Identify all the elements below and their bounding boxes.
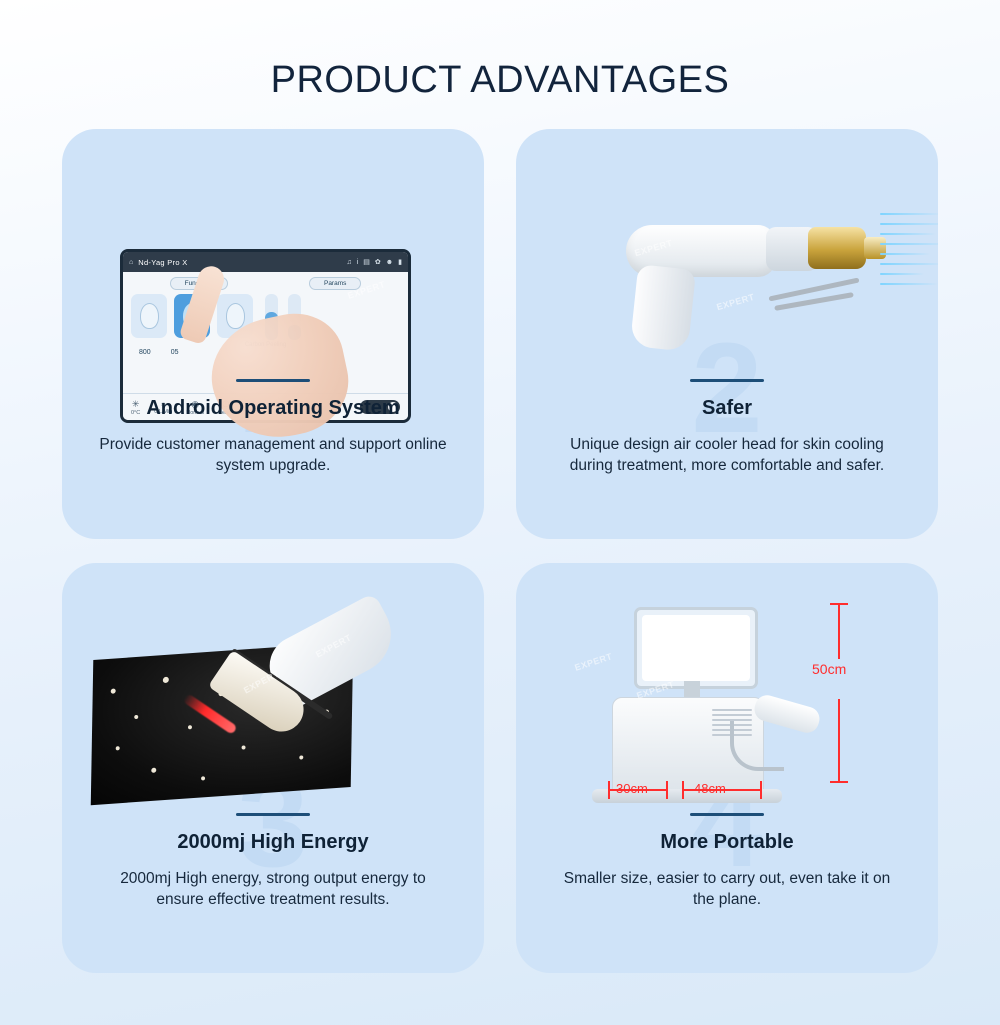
width-dimension-label: 48cm	[694, 781, 726, 796]
handpiece-grip	[630, 265, 696, 353]
face-icon	[140, 303, 159, 329]
tablet-top-bar: ⌂ Nd-Yag Pro X ♫ i ▤ ✿ ☻ ▮	[123, 252, 408, 272]
advantage-card-1: 1 ⌂ Nd-Yag Pro X ♫ i ▤ ✿ ☻ ▮ Functions P…	[62, 129, 484, 539]
card-title: Android Operating System	[62, 397, 484, 420]
app-title: Nd-Yag Pro X	[138, 258, 187, 267]
music-icon[interactable]: ♫	[346, 259, 351, 266]
face-icon	[226, 303, 245, 329]
tablet-tabs: Functions Params	[123, 272, 408, 290]
advantage-card-2: 2 EXPERT EXPERT Safer Unique design air …	[516, 129, 938, 539]
card-title: More Portable	[516, 831, 938, 854]
advantage-card-3: 3 EXPERT EXPERT	[62, 563, 484, 973]
card-description: Provide customer management and support …	[98, 435, 448, 477]
tab-params[interactable]: Params	[309, 277, 361, 290]
card-title: Safer	[516, 397, 938, 420]
watermark: EXPERT	[573, 652, 613, 674]
page-title: PRODUCT ADVANTAGES	[0, 25, 1000, 102]
user-icon[interactable]: ☻	[386, 259, 393, 266]
energy-value: 800	[139, 349, 151, 356]
function-tile-1[interactable]	[131, 294, 167, 338]
height-dimension-label: 50cm	[812, 661, 846, 677]
machine-screen-ui	[642, 615, 750, 681]
depth-dimension-label: 30cm	[616, 781, 648, 796]
advantages-grid: 1 ⌂ Nd-Yag Pro X ♫ i ▤ ✿ ☻ ▮ Functions P…	[62, 129, 938, 973]
card-media-handpiece: EXPERT EXPERT	[516, 147, 938, 375]
card-media-laser: EXPERT EXPERT	[62, 581, 484, 809]
frequency-value: 05	[171, 349, 179, 356]
title-divider	[236, 379, 310, 382]
card-description: 2000mj High energy, strong output energy…	[98, 869, 448, 911]
info-icon[interactable]: i	[357, 259, 359, 266]
gear-icon[interactable]: ✿	[375, 258, 381, 266]
title-divider	[690, 813, 764, 816]
card-media-tablet: ⌂ Nd-Yag Pro X ♫ i ▤ ✿ ☻ ▮ Functions Par…	[62, 147, 484, 375]
advantage-card-4: 4 50cm 30cm 48cm EXPERT EXPERT More Port…	[516, 563, 938, 973]
card-title: 2000mj High Energy	[62, 831, 484, 854]
card-media-machine: 50cm 30cm 48cm EXPERT EXPERT	[516, 581, 938, 809]
chart-icon[interactable]: ▤	[363, 258, 370, 266]
watermark: EXPERT	[715, 292, 755, 312]
card-description: Smaller size, easier to carry out, even …	[552, 869, 902, 911]
card-description: Unique design air cooler head for skin c…	[552, 435, 902, 477]
battery-icon[interactable]: ▮	[398, 258, 402, 266]
title-divider	[236, 813, 310, 816]
handpiece-gold-head	[808, 227, 866, 269]
home-icon[interactable]: ⌂	[129, 259, 133, 266]
title-divider	[690, 379, 764, 382]
machine-screen	[634, 607, 758, 689]
cooling-air-beam	[880, 207, 938, 297]
